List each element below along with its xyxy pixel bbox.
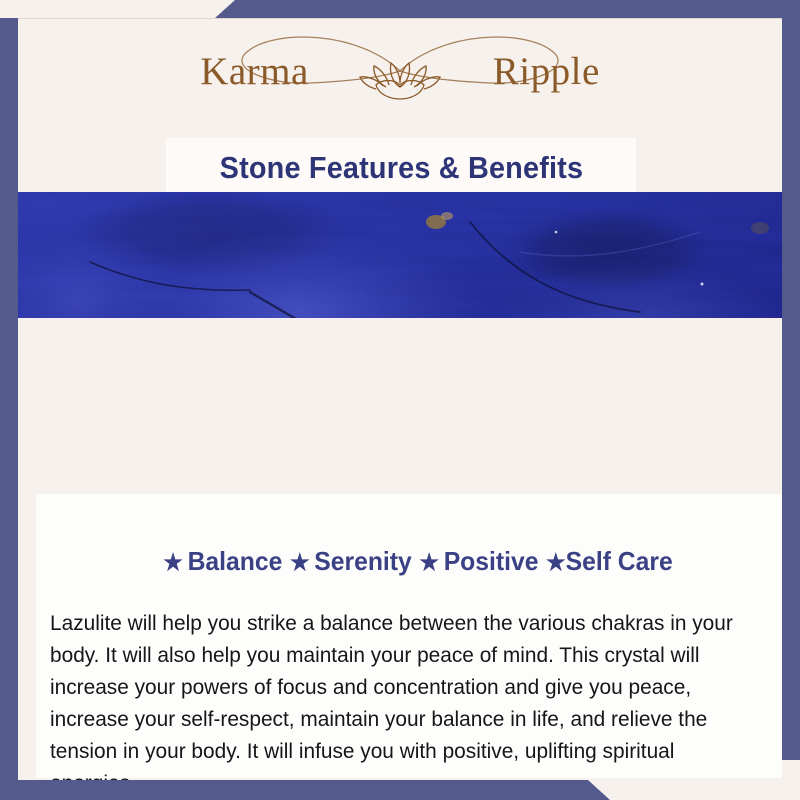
- benefit-label: Positive: [444, 546, 539, 576]
- star-icon: ★: [546, 549, 566, 576]
- card-inner-canvas: Karma Ripple Stone Features & Benefits: [18, 18, 782, 780]
- frame-left-accent: [0, 18, 18, 780]
- benefit-item-serenity: ★Serenity: [282, 546, 411, 577]
- page-title: Stone Features & Benefits: [219, 150, 583, 186]
- frame-right-accent: [782, 0, 800, 760]
- title-banner: Stone Features & Benefits: [166, 138, 636, 198]
- benefit-item-self-care: ★Self Care: [538, 546, 672, 577]
- frame-top-accent: [215, 0, 800, 18]
- star-icon: ★: [419, 549, 439, 576]
- benefit-label: Self Care: [566, 546, 673, 576]
- benefit-label: Serenity: [314, 546, 411, 576]
- star-icon: ★: [290, 549, 310, 576]
- frame-bottom-accent: [0, 780, 610, 800]
- brand-logo: Karma Ripple: [18, 18, 782, 124]
- brand-name-right: Ripple: [493, 49, 600, 94]
- benefit-item-balance: ★Balance: [163, 546, 282, 577]
- stone-description: Lazulite will help you strike a balance …: [50, 607, 746, 781]
- benefit-label: Balance: [188, 546, 283, 576]
- benefits-list: ★Balance★Serenity★Positive★Self Care: [55, 546, 781, 577]
- brand-name-left: Karma: [200, 49, 309, 94]
- benefit-item-positive: ★Positive: [412, 546, 539, 577]
- infographic-card: Karma Ripple Stone Features & Benefits: [0, 0, 800, 800]
- star-icon: ★: [163, 549, 183, 576]
- frame-inset-hairline: [18, 18, 782, 19]
